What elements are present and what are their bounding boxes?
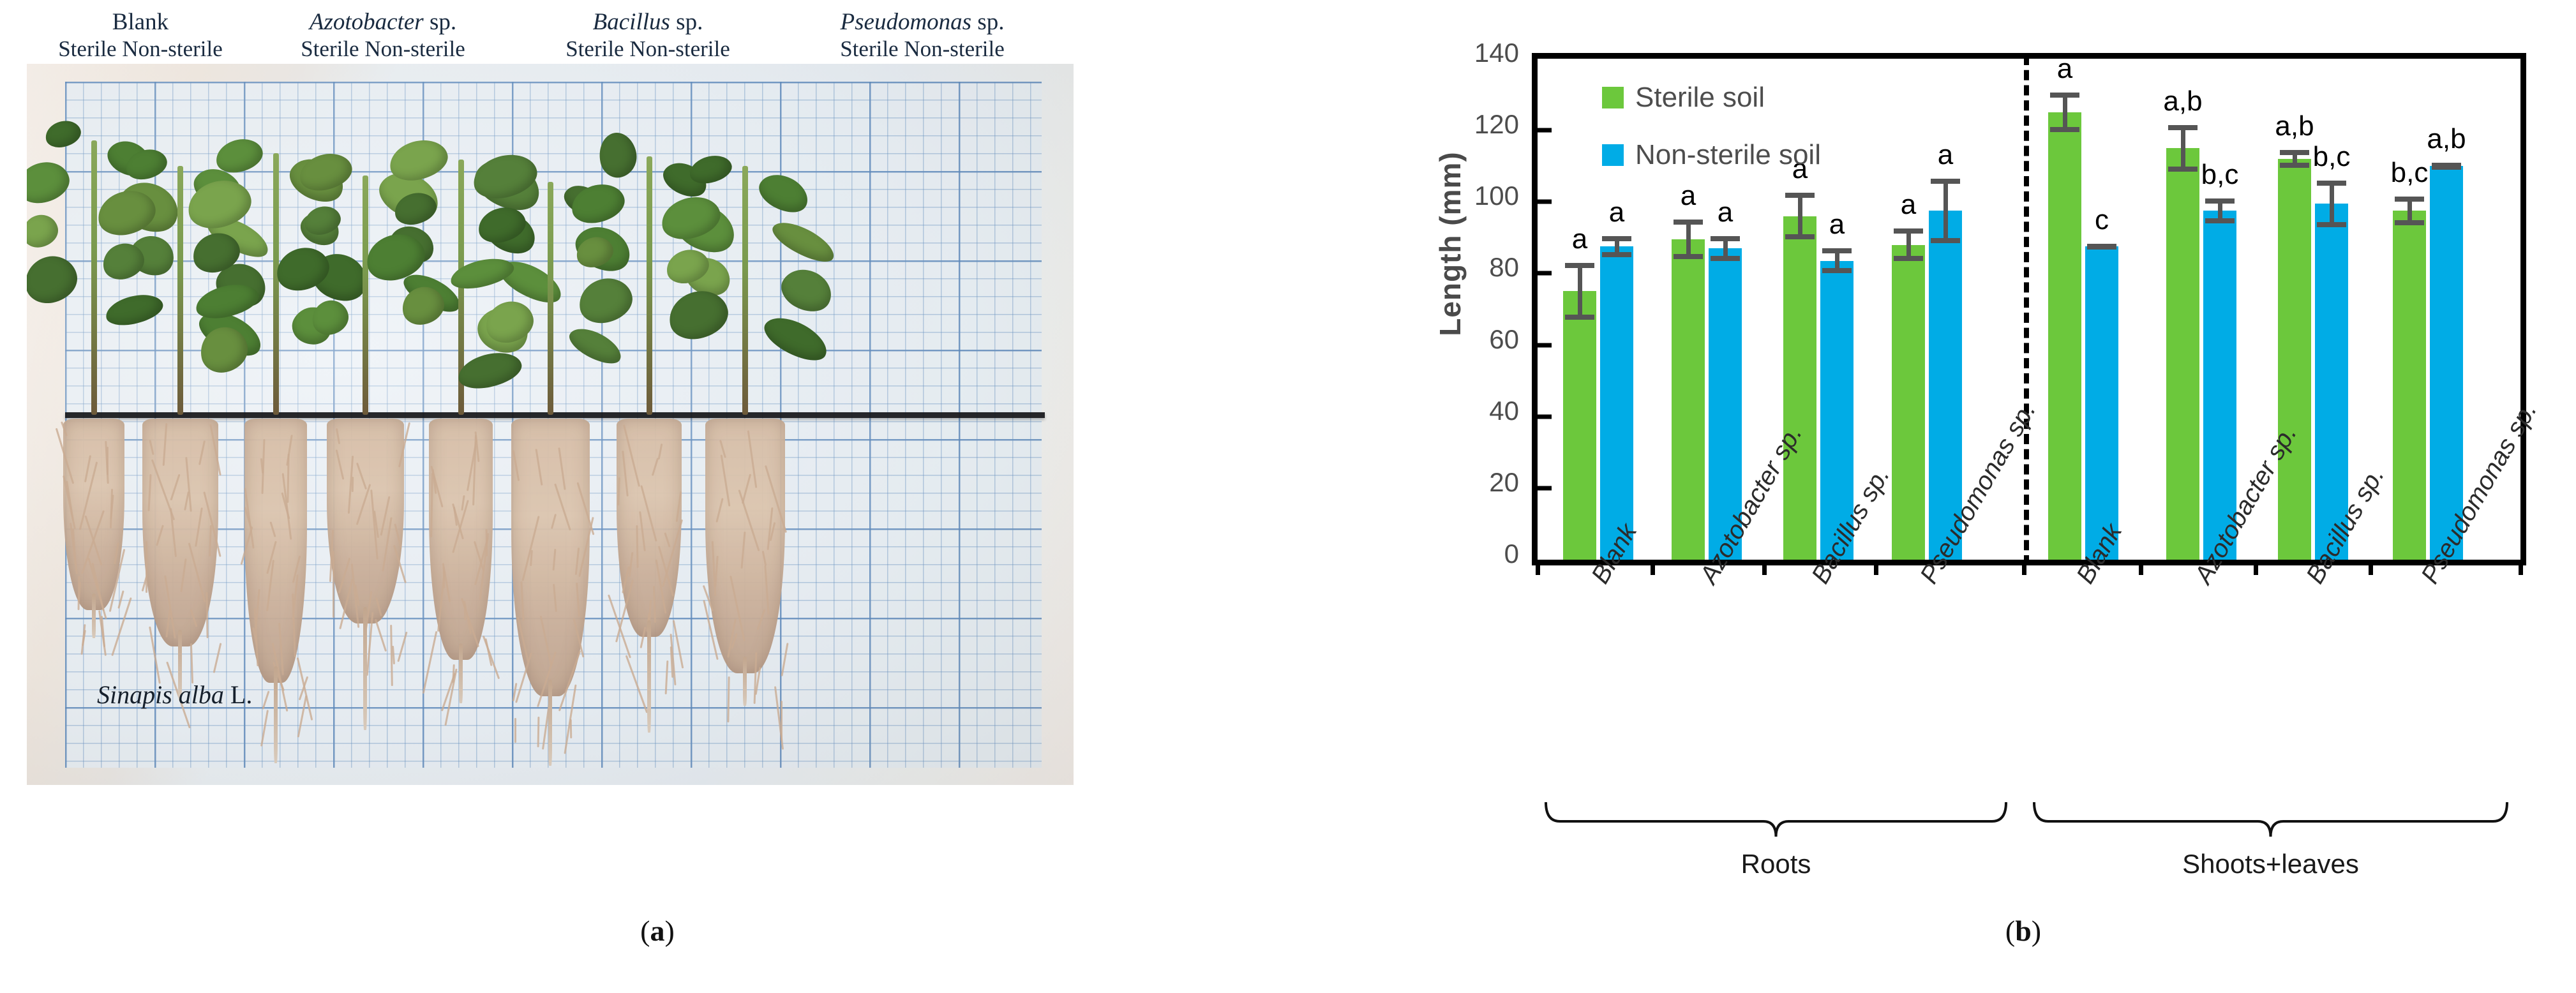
significance-letter: b,c [2313, 141, 2351, 173]
photo-group-bacillus: Bacillus sp. Sterile Non-sterile [520, 9, 775, 63]
section-divider-dashed [2024, 55, 2029, 565]
taproot [743, 657, 747, 706]
taproot [363, 607, 367, 730]
stem [91, 140, 97, 415]
leaf [123, 146, 170, 183]
taproot [647, 620, 651, 733]
y-tick-label: 20 [1411, 467, 1519, 498]
taproot [92, 594, 96, 638]
error-bar-cap [2280, 163, 2309, 168]
stem [742, 166, 748, 415]
taproot [548, 680, 552, 766]
bar-non-sterile-soil [1600, 246, 1633, 560]
error-bar-cap [2168, 167, 2198, 172]
section-label: Shoots+leaves [2182, 849, 2359, 879]
root-fiber [374, 619, 386, 652]
error-bar-cap [1931, 238, 1960, 243]
root-fiber [297, 695, 308, 737]
photo-group-blank: Blank Sterile Non-sterile [35, 9, 246, 63]
curly-brace [2033, 801, 2508, 839]
y-tick-mark [1538, 486, 1552, 490]
x-tick-mark [1536, 560, 1540, 575]
legend-swatch [1602, 87, 1624, 108]
leaf [759, 308, 834, 369]
bar-sterile-soil [1783, 216, 1816, 560]
photo-group-name: Bacillus sp. [520, 9, 775, 36]
bar-sterile-soil [1892, 245, 1925, 560]
error-bar-cap [1602, 236, 1631, 241]
significance-letter: b,c [2391, 157, 2429, 189]
photo-group-name: Blank [35, 9, 246, 36]
stem [363, 175, 368, 415]
significance-letter: a [1901, 189, 1916, 221]
root-fiber [206, 592, 208, 638]
error-bar-cap [2050, 127, 2079, 132]
y-tick-label: 80 [1411, 252, 1519, 283]
leaf [768, 214, 839, 269]
y-tick-mark [1538, 128, 1552, 133]
error-bar-cap [2050, 93, 2079, 98]
x-tick-mark [1651, 560, 1655, 575]
error-bar-cap [1602, 252, 1631, 257]
leaf [43, 118, 83, 151]
figure-root: Blank Sterile Non-sterile Azotobacter sp… [0, 0, 2576, 993]
panel-a-photograph: Blank Sterile Non-sterile Azotobacter sp… [0, 0, 1315, 993]
significance-letter: a [1572, 223, 1587, 255]
x-tick-mark [2254, 560, 2258, 575]
genus-suffix: sp. [971, 9, 1004, 35]
y-tick-mark [1538, 343, 1552, 347]
panel-a-caption: (a) [0, 914, 1315, 948]
stem [647, 156, 652, 415]
bar-sterile-soil [1563, 291, 1596, 560]
genus-azotobacter: Azotobacter [310, 9, 424, 35]
error-bar-cap [1785, 234, 1815, 239]
leaf [775, 260, 839, 320]
leaf [309, 297, 352, 338]
root-fiber [727, 676, 730, 722]
x-tick-mark [2139, 560, 2143, 575]
error-bar-cap [1931, 179, 1960, 184]
y-tick-label: 120 [1411, 109, 1519, 140]
leaf [399, 283, 448, 328]
photo-group-name: Azotobacter sp. [246, 9, 520, 36]
root-fiber [146, 541, 147, 593]
legend-label: Sterile soil [1635, 82, 1765, 114]
root-fiber [333, 551, 334, 618]
error-bar-cap [2395, 220, 2424, 225]
significance-letter: a [1829, 209, 1845, 241]
photo-group-name: Pseudomonas sp. [775, 9, 1069, 36]
error-bar-cap [2317, 181, 2346, 186]
stem [273, 153, 279, 415]
legend-item-non-sterile-soil: Non-sterile soil [1602, 139, 1821, 171]
root-fiber [514, 718, 516, 743]
root-fiber [781, 701, 783, 741]
error-bar-cap [1894, 256, 1923, 261]
leaf [302, 203, 343, 237]
bar-sterile-soil [2048, 112, 2081, 560]
genus-pseudomonas: Pseudomonas [841, 9, 972, 35]
root-fiber [107, 447, 109, 475]
root-mass [705, 419, 785, 673]
error-bar-cap [2432, 165, 2461, 170]
bar-sterile-soil [2393, 211, 2426, 560]
section-label: Roots [1741, 849, 1811, 879]
species-binomial: Sinapis alba [97, 680, 224, 709]
error-bar-cap [2317, 222, 2346, 227]
error-bar [1798, 193, 1802, 239]
y-tick-label: 40 [1411, 396, 1519, 426]
error-bar-cap [2087, 244, 2116, 250]
legend-swatch [1602, 144, 1624, 166]
error-bar [2181, 125, 2185, 172]
leaf [595, 130, 640, 181]
photo-group-azotobacter: Azotobacter sp. Sterile Non-sterile [246, 9, 520, 63]
error-bar-cap [2395, 197, 2424, 202]
root-fiber [484, 638, 492, 666]
significance-letter: a [1718, 197, 1733, 228]
error-bar-cap [2280, 150, 2309, 155]
leaf [213, 135, 266, 176]
root-fiber [781, 643, 788, 676]
taproot [459, 643, 463, 703]
root-fiber [537, 717, 539, 747]
x-tick-mark [2369, 560, 2373, 575]
root-fiber [665, 661, 669, 694]
error-bar-cap [1565, 263, 1594, 268]
significance-letter: b,c [2201, 159, 2239, 191]
legend-item-sterile-soil: Sterile soil [1602, 82, 1765, 114]
photo-group-sub: Sterile Non-sterile [35, 36, 246, 63]
y-tick-mark [1538, 200, 1552, 204]
significance-letter: a,b [2163, 86, 2202, 117]
root-fiber [569, 719, 572, 738]
error-bar-cap [1565, 315, 1594, 320]
curly-brace [1545, 801, 2007, 839]
y-tick-label: 100 [1411, 181, 1519, 211]
photo-group-headers: Blank Sterile Non-sterile Azotobacter sp… [35, 9, 1088, 64]
error-bar-cap [1785, 193, 1815, 198]
legend-label: Non-sterile soil [1635, 139, 1821, 171]
genus-suffix: sp. [424, 9, 456, 35]
bar-sterile-soil [2278, 159, 2311, 560]
x-tick-mark [1762, 560, 1767, 575]
error-bar [1943, 179, 1948, 243]
root-fiber [423, 631, 438, 694]
y-tick-label: 0 [1411, 539, 1519, 569]
significance-letter: a,b [2427, 123, 2466, 155]
error-bar-cap [1674, 220, 1703, 225]
taproot [274, 666, 278, 763]
stem [548, 182, 553, 415]
error-bar [2330, 181, 2334, 227]
panel-b-chart: Length (mm) aaaaaaaaaca,bb,ca,bb,cb,ca,b… [1315, 0, 2576, 993]
x-tick-mark [2519, 560, 2523, 575]
x-tick-mark [1874, 560, 1878, 575]
significance-letter: a [1938, 139, 1953, 171]
error-bar [2063, 93, 2067, 132]
y-tick-mark [1538, 414, 1552, 419]
leaf [27, 212, 61, 251]
root-fiber [625, 655, 648, 713]
stem [177, 166, 183, 415]
error-bar-cap [1894, 228, 1923, 234]
panel-b-letter: b [2015, 915, 2032, 947]
panel-a-letter: a [650, 915, 665, 947]
error-bar [1686, 220, 1691, 259]
y-tick-label: 140 [1411, 38, 1519, 68]
root-mass [244, 419, 307, 683]
genus-suffix: sp. [670, 9, 703, 35]
significance-letter: a [1681, 180, 1696, 212]
bar-sterile-soil [1672, 239, 1705, 560]
error-bar [1578, 263, 1582, 320]
error-bar-cap [1711, 256, 1740, 261]
panel-b-caption: (b) [1532, 914, 2515, 948]
root-fiber [190, 643, 193, 683]
significance-letter: c [2095, 204, 2109, 236]
error-bar-cap [1711, 236, 1740, 241]
seedling-photograph: Sinapis alba L. [27, 64, 1074, 785]
photo-group-sub: Sterile Non-sterile [246, 36, 520, 63]
leaf [687, 152, 734, 186]
root-fiber [262, 691, 269, 709]
genus-bacillus: Bacillus [593, 9, 670, 35]
y-tick-label: 60 [1411, 324, 1519, 355]
error-bar-cap [2168, 125, 2198, 130]
error-bar-cap [2205, 218, 2235, 223]
seedling-8 [687, 64, 834, 785]
root-fiber [390, 625, 393, 686]
species-caption: Sinapis alba L. [97, 680, 252, 710]
significance-letter: a [2057, 53, 2072, 85]
error-bar-cap [1674, 254, 1703, 259]
photo-group-pseudomonas: Pseudomonas sp. Sterile Non-sterile [775, 9, 1069, 63]
significance-letter: a,b [2275, 110, 2314, 142]
error-bar-cap [1822, 248, 1852, 253]
leaf [27, 158, 73, 207]
bar-non-sterile-soil [2085, 246, 2118, 560]
error-bar-cap [2205, 198, 2235, 204]
photo-group-sub: Sterile Non-sterile [775, 36, 1069, 63]
root-fiber [149, 626, 161, 683]
leaf [753, 167, 814, 220]
bar-sterile-soil [2166, 148, 2199, 560]
significance-letter: a [1609, 197, 1624, 228]
y-tick-mark [1538, 271, 1552, 276]
photo-group-sub: Sterile Non-sterile [520, 36, 775, 63]
error-bar-cap [1822, 268, 1852, 273]
root-fiber [260, 710, 269, 747]
